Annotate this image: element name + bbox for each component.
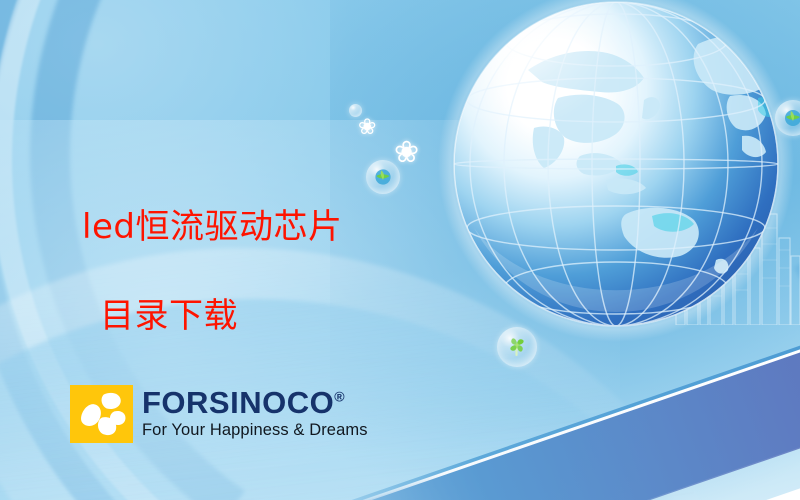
headline-line-2: 目录下载	[100, 294, 502, 340]
brand-logo[interactable]: FORSINOCO® For Your Happiness & Dreams	[70, 385, 368, 443]
ribbon-band-steel	[595, 471, 800, 500]
sparkle-asterisk-icon: ❀	[358, 116, 376, 138]
logo-brand-name: FORSINOCO®	[142, 387, 368, 418]
logo-tagline: For Your Happiness & Dreams	[142, 421, 368, 440]
banner-canvas: ❀ ❀ led恒流驱动芯片 目录下载	[0, 0, 800, 500]
bubble-with-pinwheel-icon	[497, 327, 537, 367]
bubble-small-icon	[349, 104, 362, 117]
headline-line-1: led恒流驱动芯片	[82, 205, 502, 251]
registered-trademark-icon: ®	[334, 389, 345, 405]
logo-text-block: FORSINOCO® For Your Happiness & Dreams	[142, 385, 368, 440]
pinwheel-flower-icon	[70, 385, 133, 443]
logo-brand-word: FORSINOCO	[142, 385, 334, 420]
ribbon-band-white-2	[631, 487, 800, 500]
headline-text: led恒流驱动芯片 目录下载	[82, 162, 502, 383]
ribbon-band-white	[513, 418, 800, 500]
